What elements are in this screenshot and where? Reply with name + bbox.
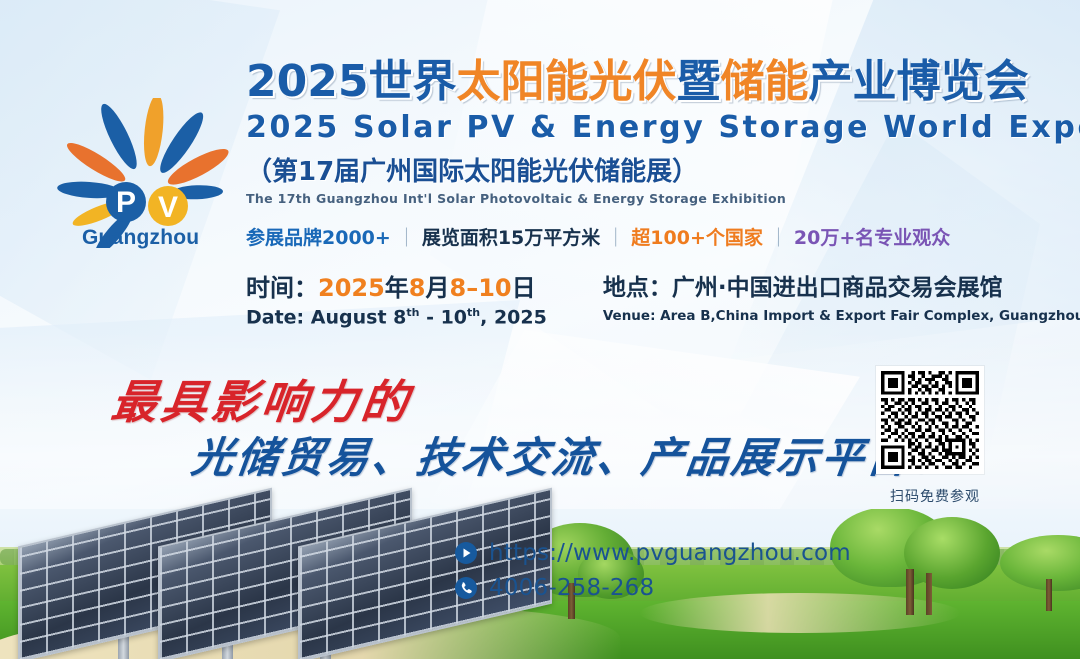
tree-icon bbox=[830, 509, 1000, 617]
date-month: 8 bbox=[409, 274, 426, 302]
stat-countries: 超100+个国家 bbox=[631, 227, 763, 249]
stat-area: 展览面积15万平方米 bbox=[422, 227, 600, 249]
stat-visitors: 20万+名专业观众 bbox=[794, 227, 950, 249]
main-title-en: 2025 Solar PV & Energy Storage World Exp… bbox=[246, 110, 1046, 145]
date-block: 时间：2025年8月8–10日 Date: August 8th - 10th,… bbox=[246, 268, 547, 328]
date-year: 2025 bbox=[318, 274, 385, 302]
date-venue-row: 时间：2025年8月8–10日 Date: August 8th - 10th,… bbox=[246, 268, 1046, 328]
date-cn: 时间：2025年8月8–10日 bbox=[246, 268, 547, 303]
sub-title-en: The 17th Guangzhou Int'l Solar Photovolt… bbox=[246, 191, 1046, 206]
play-circle-icon bbox=[455, 542, 477, 564]
date-label-cn: 时间： bbox=[246, 274, 318, 302]
date-en-suffix: , 2025 bbox=[480, 306, 547, 328]
stat-separator: ｜ bbox=[600, 227, 631, 249]
qr-caption: 扫码免费参观 bbox=[876, 486, 994, 506]
expo-poster: P V Guangzhou 2025世界太阳能光伏暨储能产业博览会 2025 S… bbox=[0, 0, 1080, 659]
qr-code-image[interactable] bbox=[876, 366, 984, 474]
date-en-sup1: th bbox=[406, 306, 419, 319]
tree-crown bbox=[1000, 535, 1080, 591]
tree-icon bbox=[1000, 535, 1080, 613]
date-en: Date: August 8th - 10th, 2025 bbox=[246, 306, 547, 328]
stat-brands: 参展品牌2000+ bbox=[246, 227, 391, 249]
headline-block: 2025世界太阳能光伏暨储能产业博览会 2025 Solar PV & Ener… bbox=[246, 56, 1046, 328]
tree-crown-secondary bbox=[904, 517, 1000, 589]
qr-code-icon bbox=[881, 371, 979, 469]
title-part-5: 产业博览会 bbox=[808, 56, 1028, 107]
tree-trunk bbox=[906, 569, 914, 615]
title-part-1: 2025世界 bbox=[246, 56, 456, 107]
stat-separator: ｜ bbox=[763, 227, 794, 249]
venue-cn: 地点：广州·中国进出口商品交易会展馆 bbox=[603, 268, 1080, 302]
date-en-sup2: th bbox=[467, 306, 480, 319]
date-days: 8–10 bbox=[450, 274, 512, 302]
solar-panel-illustration bbox=[0, 489, 470, 659]
website-url[interactable]: https://www.pvguangzhou.com bbox=[489, 540, 851, 566]
stats-bar: 参展品牌2000+｜展览面积15万平方米｜超100+个国家｜20万+名专业观众 bbox=[246, 223, 1046, 250]
website-row[interactable]: https://www.pvguangzhou.com bbox=[455, 540, 851, 566]
date-en-mid: - 10 bbox=[419, 306, 467, 328]
sub-title-cn: （第17届广州国际太阳能光伏储能展） bbox=[246, 151, 1046, 188]
title-part-4: 储能 bbox=[720, 56, 808, 107]
slogan-line-1: 最具影响力的 bbox=[108, 366, 416, 432]
phone-row[interactable]: 4006-258-268 bbox=[455, 575, 851, 601]
date-day-unit: 日 bbox=[512, 274, 536, 302]
main-title-cn: 2025世界太阳能光伏暨储能产业博览会 bbox=[246, 56, 1046, 108]
date-month-unit: 月 bbox=[426, 274, 450, 302]
venue-block: 地点：广州·中国进出口商品交易会展馆 Venue: Area B,China I… bbox=[603, 268, 1080, 324]
title-part-3: 暨 bbox=[676, 56, 720, 107]
phone-circle-icon bbox=[455, 577, 477, 599]
qr-code-block: 扫码免费参观 bbox=[876, 366, 994, 506]
logo-wordmark: Guangzhou bbox=[82, 226, 199, 250]
title-part-2: 太阳能光伏 bbox=[456, 56, 676, 107]
slogan-line-2: 光储贸易、技术交流、产品展示平台！ bbox=[188, 424, 961, 485]
phone-number[interactable]: 4006-258-268 bbox=[489, 575, 654, 601]
date-en-prefix: Date: August 8 bbox=[246, 306, 406, 328]
contact-block: https://www.pvguangzhou.com 4006-258-268 bbox=[455, 540, 851, 610]
svg-text:V: V bbox=[158, 191, 178, 224]
tree-trunk-secondary bbox=[926, 573, 932, 615]
stat-separator: ｜ bbox=[391, 227, 422, 249]
venue-en: Venue: Area B,China Import & Export Fair… bbox=[603, 308, 1080, 324]
pv-guangzhou-logo: P V Guangzhou bbox=[52, 98, 242, 268]
tree-trunk bbox=[1046, 579, 1052, 611]
svg-text:P: P bbox=[116, 186, 136, 219]
date-year-unit: 年 bbox=[385, 274, 409, 302]
